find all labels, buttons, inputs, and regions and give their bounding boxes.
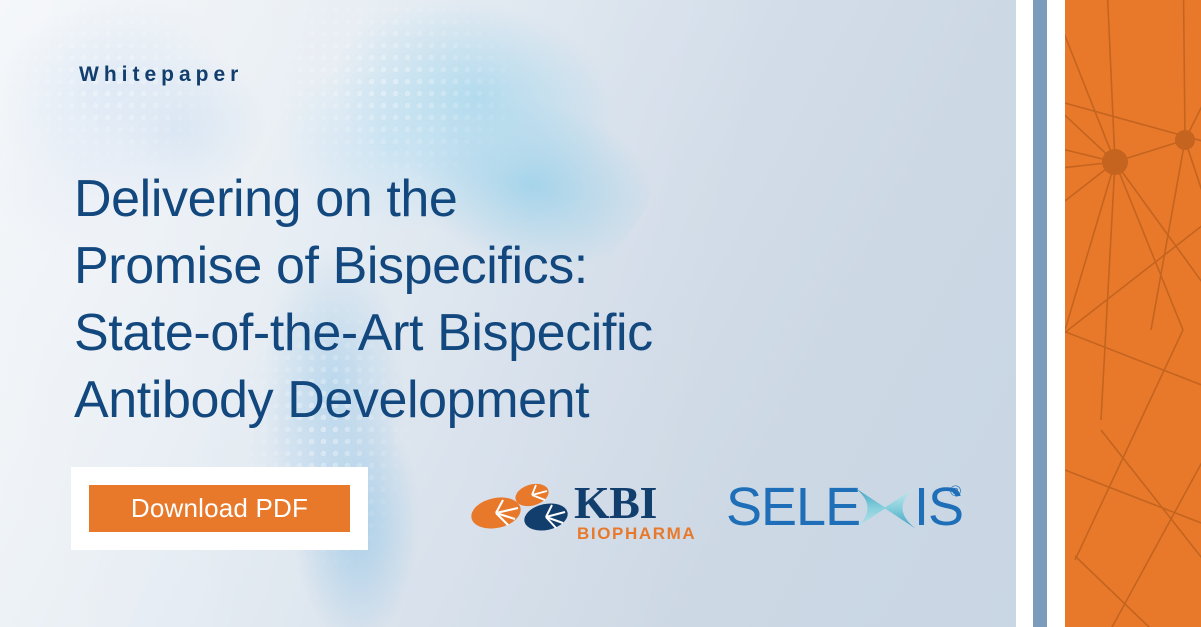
selexis-registered-trademark: ® <box>950 483 961 500</box>
download-pdf-button-frame[interactable]: Download PDF <box>71 467 368 550</box>
selexis-logo: SELE IS ® <box>726 477 966 541</box>
selexis-wordmark-left: SELE <box>726 477 860 537</box>
page-title: Delivering on the Promise of Bispecifics… <box>74 166 814 434</box>
content-panel: Whitepaper Delivering on the Promise of … <box>0 0 1016 627</box>
network-graph-decoration <box>1065 0 1201 627</box>
eyebrow-label: Whitepaper <box>79 64 243 85</box>
network-node-hub <box>1102 149 1128 175</box>
kbi-cell-marks <box>470 480 570 534</box>
text-block: Whitepaper Delivering on the Promise of … <box>0 0 1016 627</box>
network-edges <box>1065 0 1201 627</box>
headline-line-4: Antibody Development <box>74 367 814 434</box>
network-node-secondary <box>1175 130 1195 150</box>
logo-row: KBI BIOPHARMA <box>470 470 966 548</box>
selexis-x-mark <box>854 487 916 529</box>
white-gap-outer <box>1016 0 1033 627</box>
headline-line-2: Promise of Bispecifics: <box>74 233 814 300</box>
kbi-wordmark: KBI <box>574 477 657 528</box>
whitepaper-promo-banner: Whitepaper Delivering on the Promise of … <box>0 0 1201 627</box>
white-gap-inner <box>1047 0 1065 627</box>
headline-line-3: State-of-the-Art Bispecific <box>74 300 814 367</box>
kbi-biopharma-logo: KBI BIOPHARMA <box>470 473 702 545</box>
orange-accent-panel <box>1065 0 1201 627</box>
download-pdf-button[interactable]: Download PDF <box>89 485 350 532</box>
network-nodes <box>1102 130 1195 175</box>
blue-vertical-stripe <box>1033 0 1047 627</box>
kbi-tagline: BIOPHARMA <box>577 524 696 543</box>
headline-line-1: Delivering on the <box>74 166 814 233</box>
